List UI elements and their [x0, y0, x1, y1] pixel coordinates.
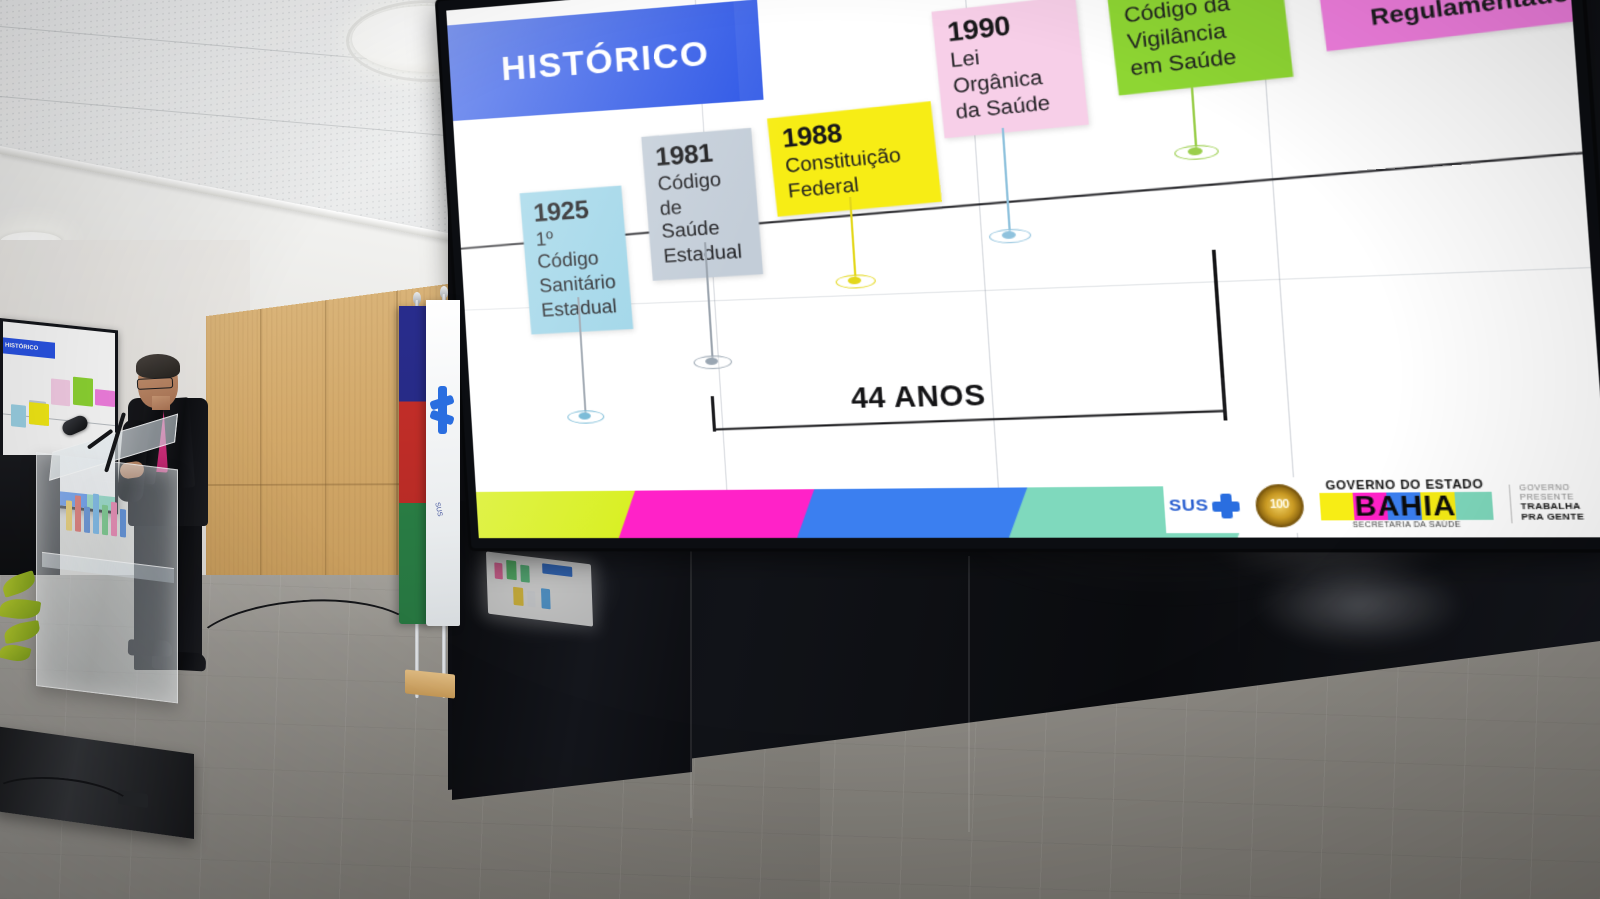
timeline-card-label-line: de Saúde — [659, 192, 747, 243]
mirror-monitor-banner-label: HISTÓRICO — [0, 337, 55, 359]
plant-leaf — [0, 570, 38, 598]
speaker-hair — [136, 354, 180, 378]
government-seal-icon: 100 — [1254, 483, 1305, 526]
decreto-line-2: Regulamentador — [1334, 0, 1600, 37]
seal-label: 100 — [1269, 499, 1289, 512]
mirror-card-1925 — [11, 404, 26, 428]
government-tagline: GOVERNO PRESENTE TRABALHA PRA GENTE — [1508, 485, 1584, 523]
flag-health-sus: SUS — [426, 300, 460, 626]
panel-seam — [968, 556, 970, 832]
mirror-card-1990 — [51, 378, 70, 406]
screen-tile-seam — [465, 267, 1591, 311]
mirror-card-decreto — [95, 389, 115, 407]
wall-gloss-highlight — [1250, 560, 1470, 650]
panel-seam — [690, 524, 692, 818]
duration-label: 44 ANOS — [850, 379, 987, 415]
timeline-pin-1990 — [1002, 128, 1011, 235]
sus-label: SUS — [1168, 496, 1209, 515]
flag-text-mark: SUS — [433, 502, 443, 518]
bracket-left-tick — [711, 396, 716, 431]
timeline-pin-1988 — [849, 197, 857, 280]
sus-logo: SUS — [1168, 493, 1240, 518]
screen-tile-seam — [1255, 0, 1298, 538]
timeline-card-label-line: 1º Código — [535, 224, 616, 274]
poster-reflection — [486, 551, 593, 626]
plant-leaf — [0, 642, 31, 665]
timeline-card-1990[interactable]: 1990 Lei Orgânica da Saúde — [931, 0, 1088, 138]
speaker-glasses-icon — [137, 377, 174, 390]
timeline-card-1981[interactable]: 1981 Código de Saúde Estadual — [641, 128, 763, 280]
page-title: HISTÓRICO — [446, 33, 710, 93]
timeline-card-year: 1925 — [532, 196, 611, 228]
presentation-slide: HISTÓRICO 1925 1º Código Sanitário Estad… — [446, 0, 1600, 538]
bahia-logo-wordmark: BAHIA — [1319, 492, 1493, 521]
timeline-card-year: 1981 — [654, 138, 741, 171]
logo-bar: SUS 100 GOVERNO DO ESTADO — [1162, 475, 1591, 534]
slide-title-banner-tab — [733, 0, 763, 101]
timeline-card-1988[interactable]: 1988 Constituição Federal — [767, 101, 942, 216]
flagpole-base — [405, 669, 455, 698]
stripe-segment-blue — [797, 487, 1030, 538]
flag-health-symbol-icon — [430, 386, 454, 434]
mirror-card-1988 — [29, 402, 49, 426]
timeline-card-label-line: Sanitário — [539, 271, 618, 298]
timeline-pin-2025 — [1191, 87, 1198, 152]
slide-title-banner: HISTÓRICO — [446, 1, 740, 121]
timeline-card-decreto[interactable]: Decreto Regulamentador — [1316, 0, 1600, 52]
timeline-card-label-line: Código — [657, 167, 743, 196]
tagline-line-4: PRA GENTE — [1521, 512, 1585, 522]
speaker-neck — [152, 396, 170, 410]
bahia-logo-word-text: BAHIA — [1319, 492, 1493, 521]
bahia-government-logo: GOVERNO DO ESTADO BAHIA SECRETARIA DA SA… — [1318, 479, 1494, 530]
presentation-room-photo: HISTÓRICO — [0, 0, 1600, 899]
decorative-plant — [0, 565, 52, 685]
tagline-line-1: GOVERNO — [1519, 485, 1582, 494]
video-wall-screen: HISTÓRICO 1925 1º Código Sanitário Estad… — [438, 0, 1600, 563]
mirror-monitor-banner: HISTÓRICO — [0, 337, 55, 359]
plant-leaf — [3, 620, 42, 644]
stripe-segment-magenta — [619, 489, 817, 538]
timeline-card-1925[interactable]: 1925 1º Código Sanitário Estadual — [520, 186, 634, 335]
mirror-card-2025 — [73, 377, 93, 407]
bahia-logo-bottom-text: SECRETARIA DA SAÚDE — [1352, 521, 1461, 529]
plant-leaf — [0, 596, 41, 621]
sus-cross-icon — [1211, 493, 1240, 518]
